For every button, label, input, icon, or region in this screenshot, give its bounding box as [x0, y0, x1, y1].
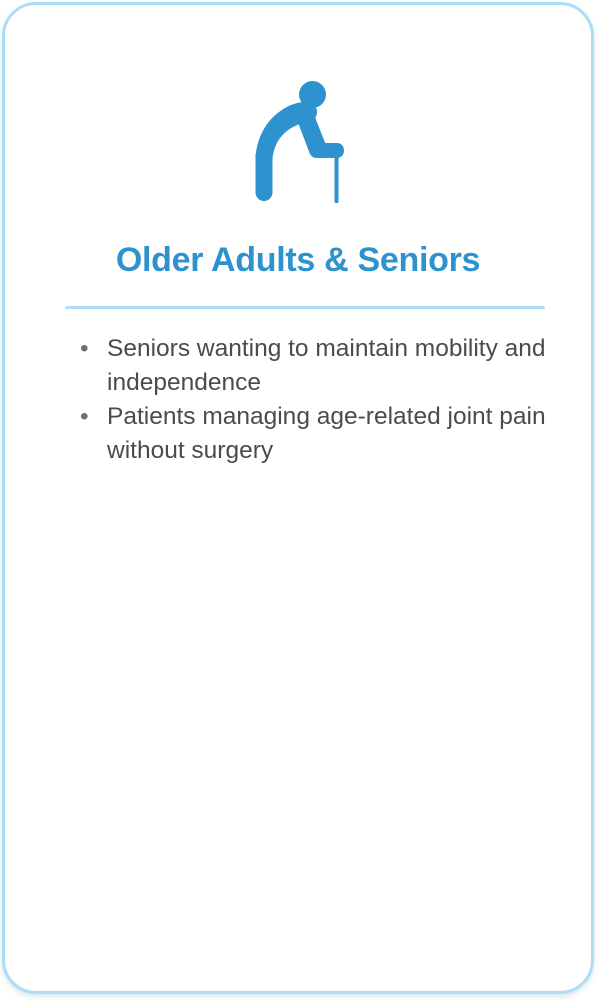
list-item-label: Seniors wanting to maintain mobility and…	[107, 332, 547, 400]
list-item-label: Patients managing age-related joint pain…	[107, 400, 547, 468]
card-content: Older Adults & Seniors • Seniors wanting…	[5, 5, 591, 991]
card-title: Older Adults & Seniors	[5, 241, 591, 280]
divider	[65, 306, 545, 309]
list-item: • Patients managing age-related joint pa…	[77, 400, 547, 468]
bullet-marker-icon: •	[80, 400, 89, 434]
audience-bullet-list: • Seniors wanting to maintain mobility a…	[77, 332, 547, 468]
bullet-marker-icon: •	[80, 332, 89, 366]
elderly-person-with-cane-icon	[5, 77, 591, 207]
list-item: • Seniors wanting to maintain mobility a…	[77, 332, 547, 400]
audience-card: Older Adults & Seniors • Seniors wanting…	[2, 2, 594, 994]
